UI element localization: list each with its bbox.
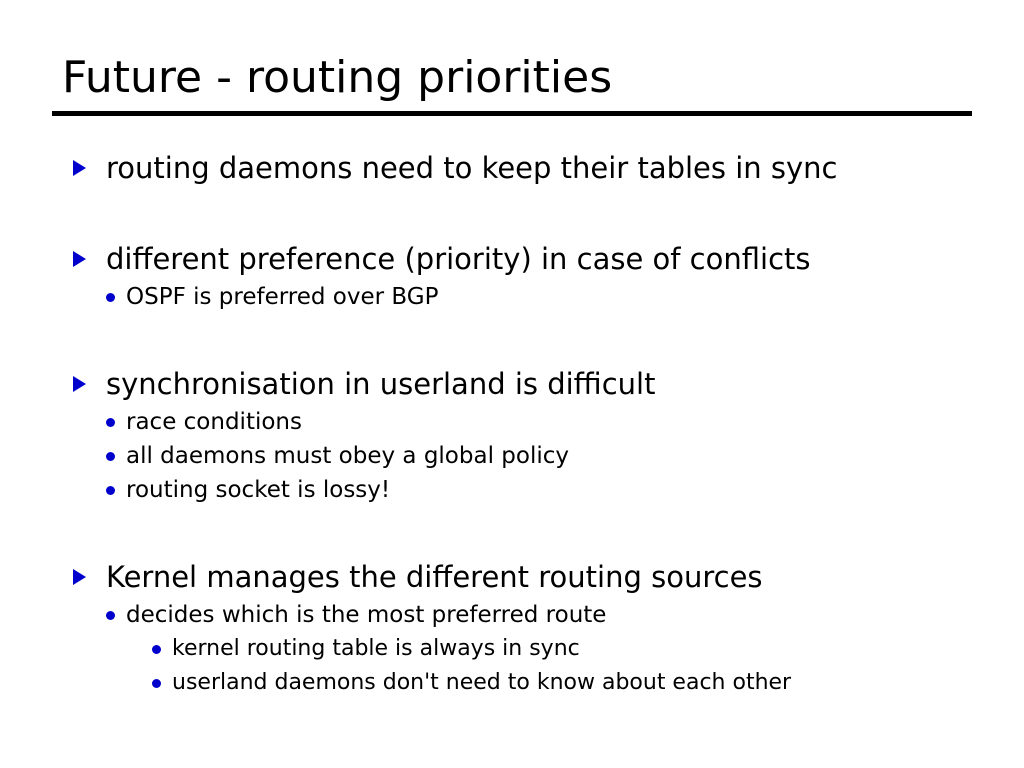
- dot-bullet-icon: [106, 486, 115, 495]
- page-title: Future - routing priorities: [62, 52, 612, 104]
- bullet-text: Kernel manages the different routing sou…: [106, 557, 984, 598]
- bullet-level2: all daemons must obey a global policy: [0, 439, 1024, 473]
- triangle-bullet-icon: [73, 251, 86, 267]
- bullet-text: race conditions: [126, 405, 984, 439]
- bullet-level1: different preference (priority) in case …: [0, 239, 1024, 280]
- bullet-level2: routing socket is lossy!: [0, 473, 1024, 507]
- bullet-text: synchronisation in userland is difficult: [106, 364, 984, 405]
- bullet-text: all daemons must obey a global policy: [126, 439, 984, 473]
- bullet-text: decides which is the most preferred rout…: [126, 598, 984, 632]
- bullet-text: userland daemons don't need to know abou…: [172, 666, 854, 700]
- triangle-bullet-icon: [73, 569, 86, 585]
- bullet-level1: Kernel manages the different routing sou…: [0, 557, 1024, 598]
- bullet-text: different preference (priority) in case …: [106, 239, 984, 280]
- dot-bullet-icon: [106, 293, 115, 302]
- dot-bullet-icon: [106, 452, 115, 461]
- triangle-bullet-icon: [73, 160, 86, 176]
- dot-bullet-icon: [152, 679, 161, 688]
- bullet-level3: userland daemons don't need to know abou…: [0, 666, 1024, 700]
- bullet-level1: synchronisation in userland is difficult: [0, 364, 1024, 405]
- bullet-text: kernel routing table is always in sync: [172, 632, 854, 666]
- bullet-text: routing socket is lossy!: [126, 473, 984, 507]
- dot-bullet-icon: [106, 611, 115, 620]
- bullet-level2: OSPF is preferred over BGP: [0, 280, 1024, 314]
- bullet-text: OSPF is preferred over BGP: [126, 280, 984, 314]
- bullet-level1: routing daemons need to keep their table…: [0, 148, 1024, 189]
- bullet-group: Kernel manages the different routing sou…: [0, 557, 1024, 700]
- slide: Future - routing priorities routing daem…: [0, 0, 1024, 768]
- bullet-level3: kernel routing table is always in sync: [0, 632, 1024, 666]
- bullet-level2: race conditions: [0, 405, 1024, 439]
- bullet-group: different preference (priority) in case …: [0, 239, 1024, 314]
- dot-bullet-icon: [152, 645, 161, 654]
- bullet-text: routing daemons need to keep their table…: [106, 148, 984, 189]
- title-divider: [52, 111, 972, 116]
- dot-bullet-icon: [106, 418, 115, 427]
- slide-body: routing daemons need to keep their table…: [0, 148, 1024, 700]
- bullet-level2: decides which is the most preferred rout…: [0, 598, 1024, 632]
- bullet-group: synchronisation in userland is difficult…: [0, 364, 1024, 507]
- bullet-group: routing daemons need to keep their table…: [0, 148, 1024, 189]
- triangle-bullet-icon: [73, 376, 86, 392]
